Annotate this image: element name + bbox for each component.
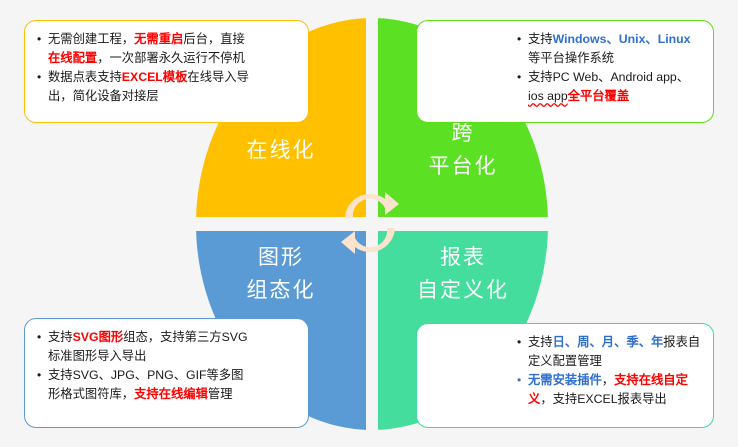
bullet-text: 支持SVG、JPG、PNG、GIF等多图形格式图符库，支持在线编辑管理 xyxy=(48,368,243,401)
quadrant-label-online: 在线化 xyxy=(196,135,366,168)
callout-top-left-list: 无需创建工程，无需重启后台，直接在线配置，一次部署永久运行不停机数据点表支持EX… xyxy=(37,30,296,106)
callout-top-right-list: 支持Windows、Unix、Linux等平台操作系统支持PC Web、Andr… xyxy=(517,30,701,106)
callout-bottom-left: 支持SVG图形组态，支持第三方SVG标准图形导入导出支持SVG、JPG、PNG、… xyxy=(24,318,309,428)
list-item: 数据点表支持EXCEL模板在线导入导出，简化设备对接层 xyxy=(37,68,255,105)
bullet-text: 无需创建工程，无需重启后台，直接在线配置，一次部署永久运行不停机 xyxy=(48,32,245,65)
callout-bottom-left-list: 支持SVG图形组态，支持第三方SVG标准图形导入导出支持SVG、JPG、PNG、… xyxy=(37,328,296,404)
bullet-text: 数据点表支持EXCEL模板在线导入导出，简化设备对接层 xyxy=(48,70,249,103)
list-item: 支持SVG图形组态，支持第三方SVG标准图形导入导出 xyxy=(37,328,255,365)
circular-rotation-arrows-icon xyxy=(337,188,403,258)
callout-top-right: 支持Windows、Unix、Linux等平台操作系统支持PC Web、Andr… xyxy=(416,20,714,123)
list-item: 无需安装插件，支持在线自定义，支持EXCEL报表导出 xyxy=(517,371,701,408)
quadrant-label-reports: 报表 自定义化 xyxy=(378,242,548,307)
bullet-text: 无需安装插件，支持在线自定义，支持EXCEL报表导出 xyxy=(528,373,688,406)
bullet-text: 支持PC Web、Android app、ios app全平台覆盖 xyxy=(528,70,689,103)
bullet-text: 支持Windows、Unix、Linux等平台操作系统 xyxy=(528,32,691,65)
callout-bottom-right: 支持日、周、月、季、年报表自定义配置管理无需安装插件，支持在线自定义，支持EXC… xyxy=(416,323,714,428)
list-item: 支持Windows、Unix、Linux等平台操作系统 xyxy=(517,30,701,67)
list-item: 支持SVG、JPG、PNG、GIF等多图形格式图符库，支持在线编辑管理 xyxy=(37,366,255,403)
callout-bottom-right-list: 支持日、周、月、季、年报表自定义配置管理无需安装插件，支持在线自定义，支持EXC… xyxy=(517,333,701,409)
callout-top-left: 无需创建工程，无需重启后台，直接在线配置，一次部署永久运行不停机数据点表支持EX… xyxy=(24,20,309,123)
list-item: 支持PC Web、Android app、ios app全平台覆盖 xyxy=(517,68,701,105)
bullet-text: 支持日、周、月、季、年报表自定义配置管理 xyxy=(528,335,700,368)
quadrant-label-cross-platform: 跨 平台化 xyxy=(378,118,548,183)
diagram-canvas: 在线化 跨 平台化 图形 组态化 报表 自定义化 无需创建工程，无需重启后台，直… xyxy=(0,0,738,447)
list-item: 支持日、周、月、季、年报表自定义配置管理 xyxy=(517,333,701,370)
bullet-text: 支持SVG图形组态，支持第三方SVG标准图形导入导出 xyxy=(48,330,248,363)
list-item: 无需创建工程，无需重启后台，直接在线配置，一次部署永久运行不停机 xyxy=(37,30,255,67)
